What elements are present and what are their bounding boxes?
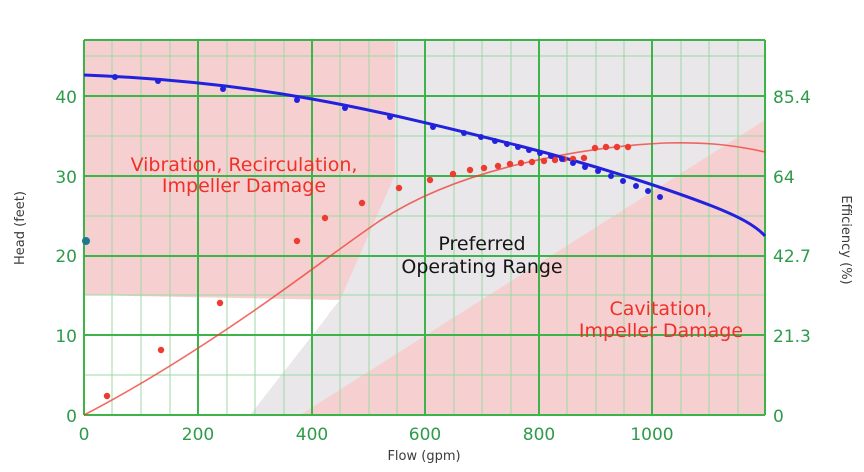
y-tick-3: 30 xyxy=(55,168,77,188)
y-left-tick-labels: 0 10 20 30 40 xyxy=(55,88,77,427)
pump-curve-chart: 0 200 400 600 800 1000 0 10 20 30 40 0 2… xyxy=(0,0,864,472)
chart-svg: 0 200 400 600 800 1000 0 10 20 30 40 0 2… xyxy=(0,0,864,472)
annotation-preferred-line1: Preferred xyxy=(438,233,525,255)
x-tick-0: 0 xyxy=(79,425,90,445)
x-tick-2: 400 xyxy=(296,425,328,445)
annotation-cavitation-line1: Cavitation, xyxy=(610,298,713,320)
x-tick-1: 200 xyxy=(182,425,214,445)
x-axis-title: Flow (gpm) xyxy=(387,449,460,464)
annotation-cavitation-line2: Impeller Damage xyxy=(579,320,743,342)
y-tick-0: 0 xyxy=(66,407,77,427)
x-tick-3: 600 xyxy=(409,425,441,445)
annotation-vibration-line1: Vibration, Recirculation, xyxy=(131,154,358,176)
head-origin-marker xyxy=(82,237,90,245)
y2-tick-4: 85.4 xyxy=(773,88,811,108)
annotation-preferred-line2: Operating Range xyxy=(401,256,562,278)
x-tick-4: 800 xyxy=(523,425,555,445)
annotation-vibration-line2: Impeller Damage xyxy=(162,175,326,197)
y-tick-1: 10 xyxy=(55,327,77,347)
y2-tick-3: 64 xyxy=(773,168,795,188)
x-tick-5: 1000 xyxy=(630,425,673,445)
y2-tick-0: 0 xyxy=(773,407,784,427)
y-tick-4: 40 xyxy=(55,88,77,108)
y-right-axis-title: Efficiency (%) xyxy=(838,195,853,284)
y-tick-2: 20 xyxy=(55,247,77,267)
y2-tick-1: 21.3 xyxy=(773,327,811,347)
x-tick-labels: 0 200 400 600 800 1000 xyxy=(79,425,674,445)
y-left-axis-title: Head (feet) xyxy=(13,191,28,265)
y-right-tick-labels: 0 21.3 42.7 64 85.4 xyxy=(773,88,811,427)
y2-tick-2: 42.7 xyxy=(773,247,811,267)
